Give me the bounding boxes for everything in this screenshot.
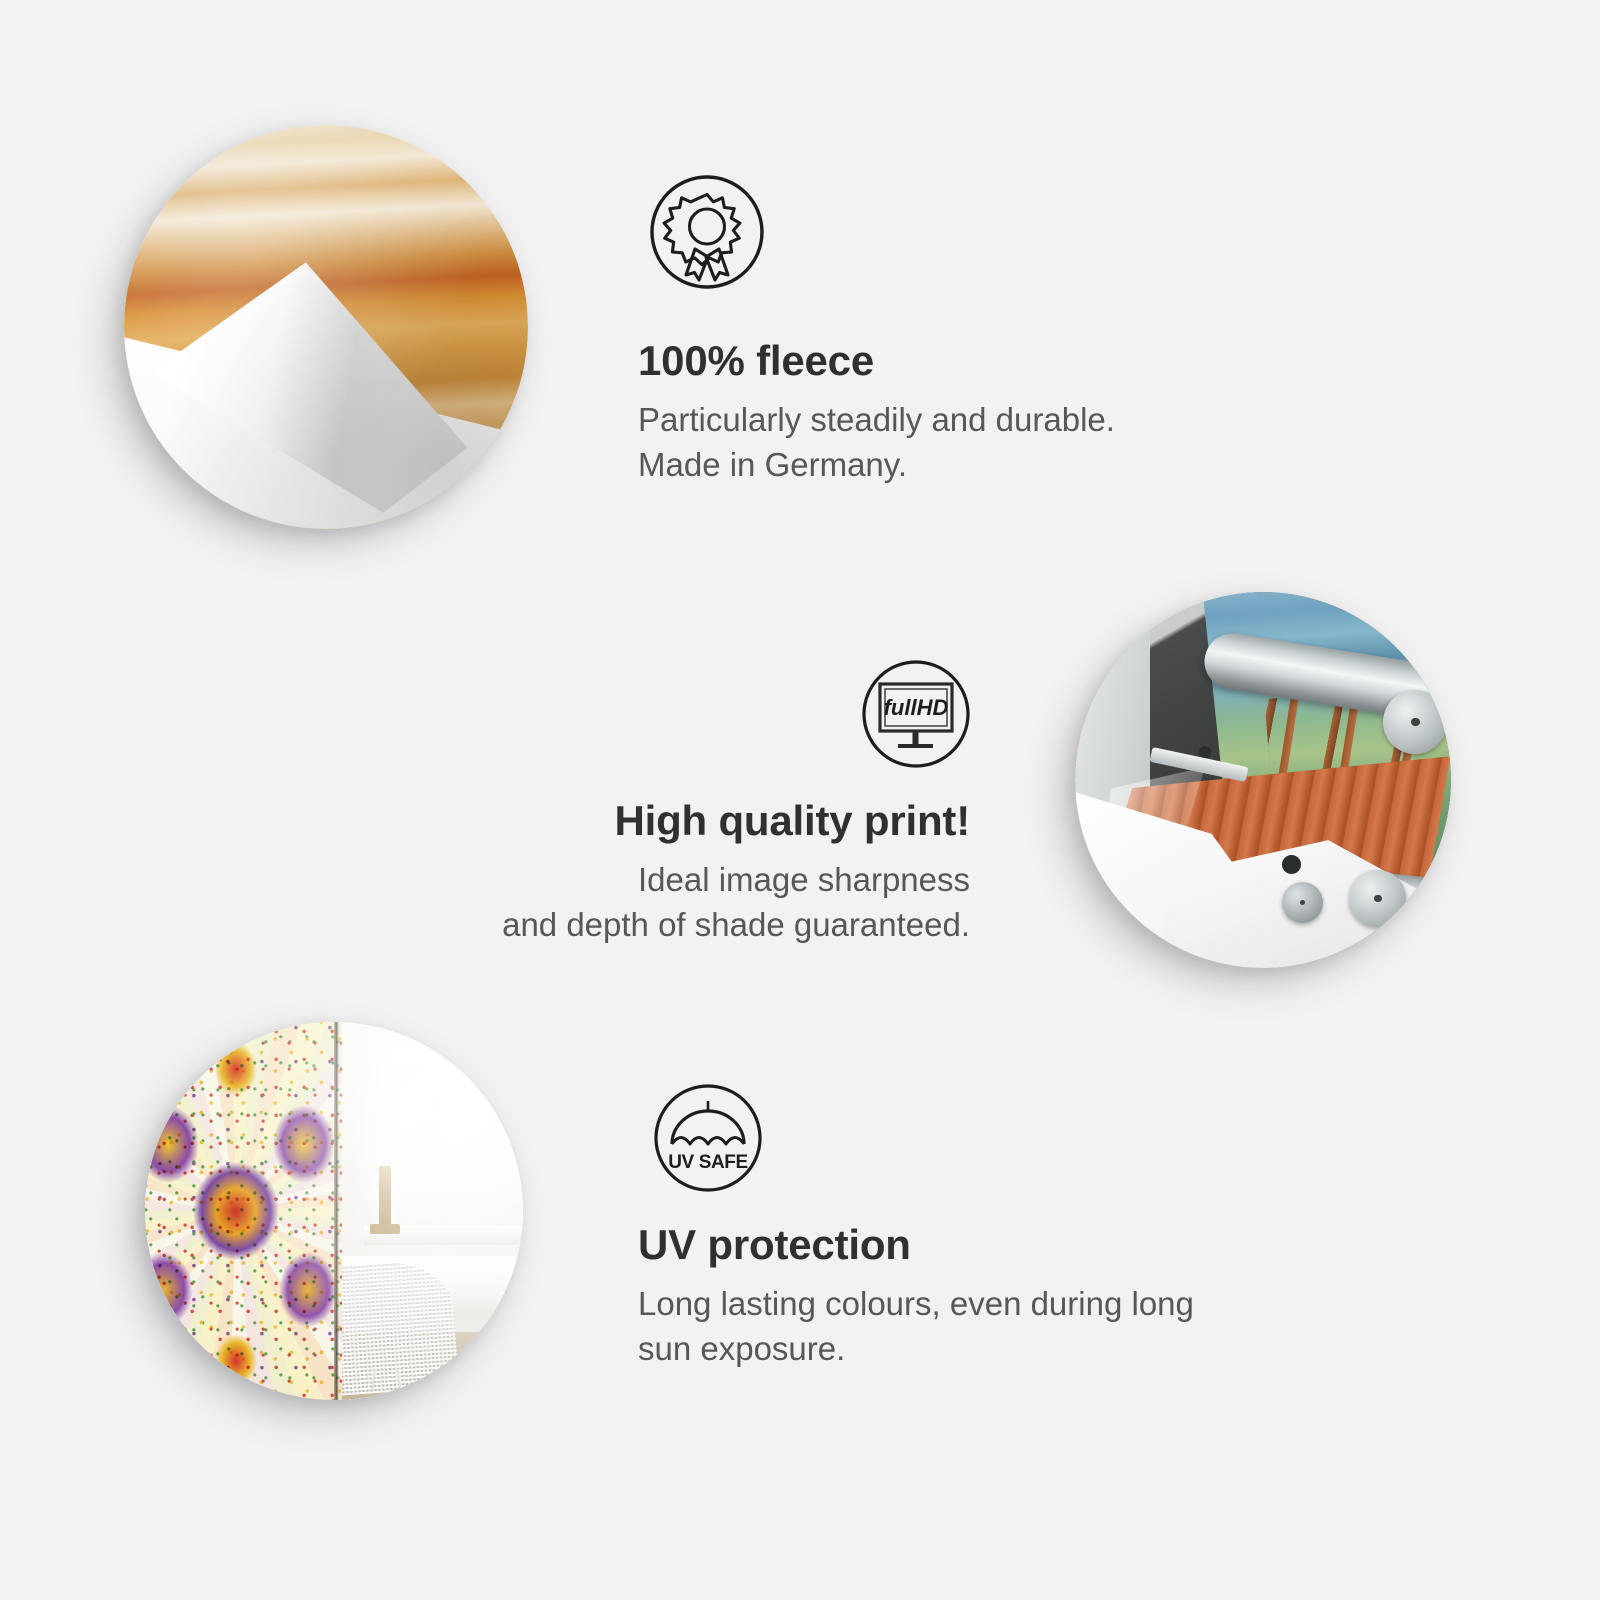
photo-fleece-peel bbox=[124, 125, 528, 529]
chair-leg bbox=[396, 1368, 402, 1389]
press-disc-right bbox=[1383, 690, 1447, 754]
full-hd-icon-label: fullHD bbox=[884, 695, 949, 720]
feature-body-line-2: Made in Germany. bbox=[638, 446, 907, 483]
feature-body-fleece: Particularly steadily and durable. Made … bbox=[638, 398, 1358, 488]
feature-infographic: 100% fleece Particularly steadily and du… bbox=[0, 0, 1600, 1600]
press-disc-lower-left bbox=[1282, 882, 1323, 923]
press-disc-lower-right bbox=[1349, 870, 1405, 926]
feature-body-line-1: Ideal image sharpness bbox=[638, 861, 970, 898]
mandala-wallpaper-detail bbox=[145, 1022, 342, 1400]
chair-leg bbox=[372, 1370, 375, 1391]
room-window bbox=[394, 1045, 523, 1226]
photo-fleece-surface bbox=[124, 125, 528, 529]
award-ribbon-icon bbox=[648, 173, 766, 291]
uv-safe-icon-label: UV SAFE bbox=[668, 1152, 748, 1173]
photo-print-surface bbox=[1075, 592, 1451, 968]
full-hd-monitor-icon: fullHD bbox=[860, 658, 972, 770]
candlestick bbox=[379, 1166, 390, 1234]
wallpaper-seam bbox=[334, 1022, 339, 1400]
feature-text-uv: UV protection Long lasting colours, even… bbox=[638, 1222, 1338, 1372]
feature-body-line-1: Particularly steadily and durable. bbox=[638, 401, 1115, 438]
press-knob bbox=[1282, 855, 1301, 874]
feature-heading-fleece: 100% fleece bbox=[638, 338, 1358, 384]
uv-safe-umbrella-icon: UV SAFE bbox=[652, 1082, 764, 1194]
feature-heading-uv: UV protection bbox=[638, 1222, 1338, 1268]
feature-text-print: High quality print! Ideal image sharpnes… bbox=[300, 798, 970, 948]
photo-printing-press bbox=[1075, 592, 1451, 968]
feature-body-print: Ideal image sharpness and depth of shade… bbox=[300, 858, 970, 948]
feature-body-line-2: sun exposure. bbox=[638, 1330, 845, 1367]
photo-uv-surface bbox=[145, 1022, 523, 1400]
feature-body-uv: Long lasting colours, even during long s… bbox=[638, 1282, 1338, 1372]
photo-mandala-room bbox=[145, 1022, 523, 1400]
feature-text-fleece: 100% fleece Particularly steadily and du… bbox=[638, 338, 1358, 488]
feature-heading-print: High quality print! bbox=[300, 798, 970, 844]
fleece-photo-shading bbox=[124, 125, 528, 529]
feature-body-line-2: and depth of shade guaranteed. bbox=[502, 906, 970, 943]
feature-body-line-1: Long lasting colours, even during long bbox=[638, 1285, 1194, 1322]
